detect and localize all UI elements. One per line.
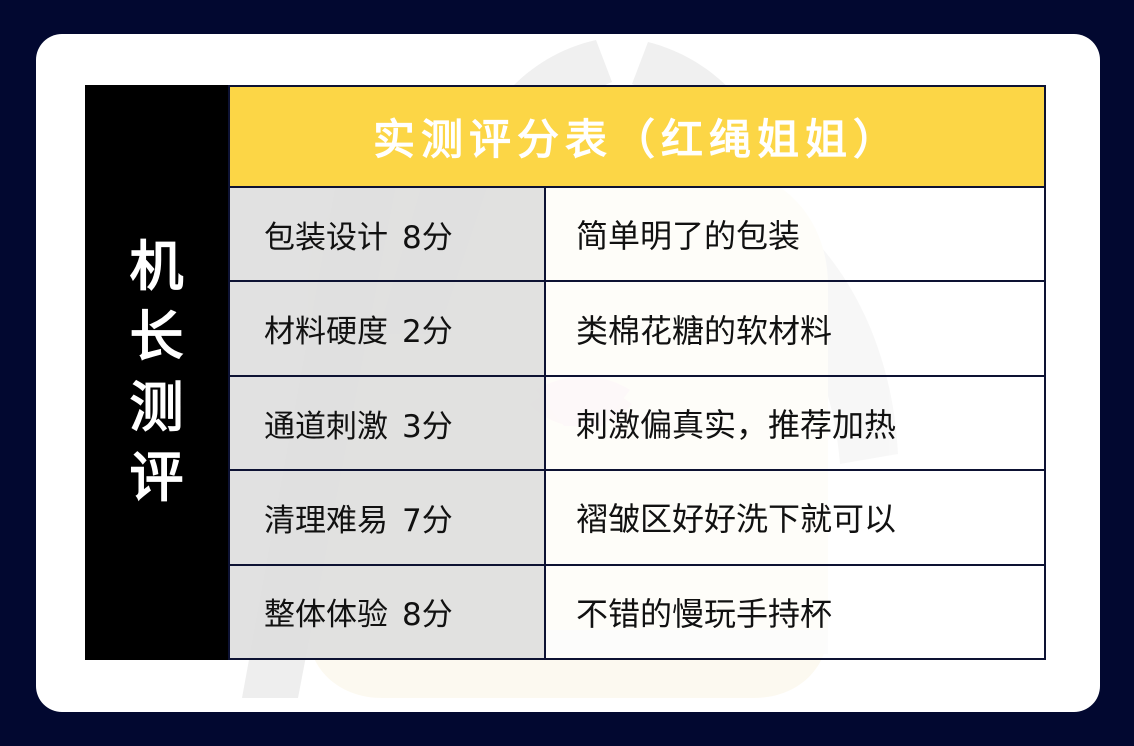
table-body-wrapper: 实测评分表（红绳姐姐） 包装设计 8分 简单明了的包装 <box>228 85 1046 660</box>
metric-score: 8分 <box>402 589 453 634</box>
metric-score: 7分 <box>402 495 453 540</box>
note-text: 褶皱区好好洗下就可以 <box>576 494 896 540</box>
note-cell: 刺激偏真实，推荐加热 <box>546 377 1046 471</box>
metric-score: 8分 <box>402 212 453 257</box>
note-text: 不错的慢玩手持杯 <box>576 589 832 635</box>
note-cell: 不错的慢玩手持杯 <box>546 566 1046 660</box>
metric-label: 整体体验 <box>264 589 388 634</box>
side-label-char-0: 机 <box>130 232 184 302</box>
side-label-column: 机 长 测 评 <box>85 85 228 660</box>
table-header: 实测评分表（红绳姐姐） <box>228 85 1046 188</box>
metric-label: 材料硬度 <box>264 306 388 351</box>
note-cell: 简单明了的包装 <box>546 188 1046 282</box>
score-card: 机 长 测 评 实测评分表（红绳姐姐） 包装设计 8分 简 <box>36 34 1100 712</box>
side-label-char-1: 长 <box>130 302 184 372</box>
metric-cell: 材料硬度 2分 <box>228 282 546 376</box>
screenshot-root: 机 长 测 评 实测评分表（红绳姐姐） 包装设计 8分 简 <box>0 0 1134 746</box>
rating-table: 机 长 测 评 实测评分表（红绳姐姐） 包装设计 8分 简 <box>85 85 1046 660</box>
table-row: 清理难易 7分 褶皱区好好洗下就可以 <box>228 471 1046 565</box>
side-label-char-2: 测 <box>130 373 184 443</box>
metric-score: 3分 <box>402 401 453 446</box>
note-text: 简单明了的包装 <box>576 211 800 257</box>
table-row: 包装设计 8分 简单明了的包装 <box>228 188 1046 282</box>
metric-cell: 包装设计 8分 <box>228 188 546 282</box>
note-cell: 褶皱区好好洗下就可以 <box>546 471 1046 565</box>
note-text: 刺激偏真实，推荐加热 <box>576 400 896 446</box>
metric-label: 通道刺激 <box>264 401 388 446</box>
table-rows: 包装设计 8分 简单明了的包装 材料硬度 2分 类棉花糖的 <box>228 188 1046 660</box>
table-title: 实测评分表（红绳姐姐） <box>373 106 901 167</box>
note-text: 类棉花糖的软材料 <box>576 306 832 352</box>
table-row: 整体体验 8分 不错的慢玩手持杯 <box>228 566 1046 660</box>
side-label-char-3: 评 <box>130 443 184 513</box>
table-row: 材料硬度 2分 类棉花糖的软材料 <box>228 282 1046 376</box>
metric-score: 2分 <box>402 306 453 351</box>
metric-cell: 整体体验 8分 <box>228 566 546 660</box>
table-row: 通道刺激 3分 刺激偏真实，推荐加热 <box>228 377 1046 471</box>
note-cell: 类棉花糖的软材料 <box>546 282 1046 376</box>
metric-label: 包装设计 <box>264 212 388 257</box>
metric-label: 清理难易 <box>264 495 388 540</box>
metric-cell: 清理难易 7分 <box>228 471 546 565</box>
metric-cell: 通道刺激 3分 <box>228 377 546 471</box>
